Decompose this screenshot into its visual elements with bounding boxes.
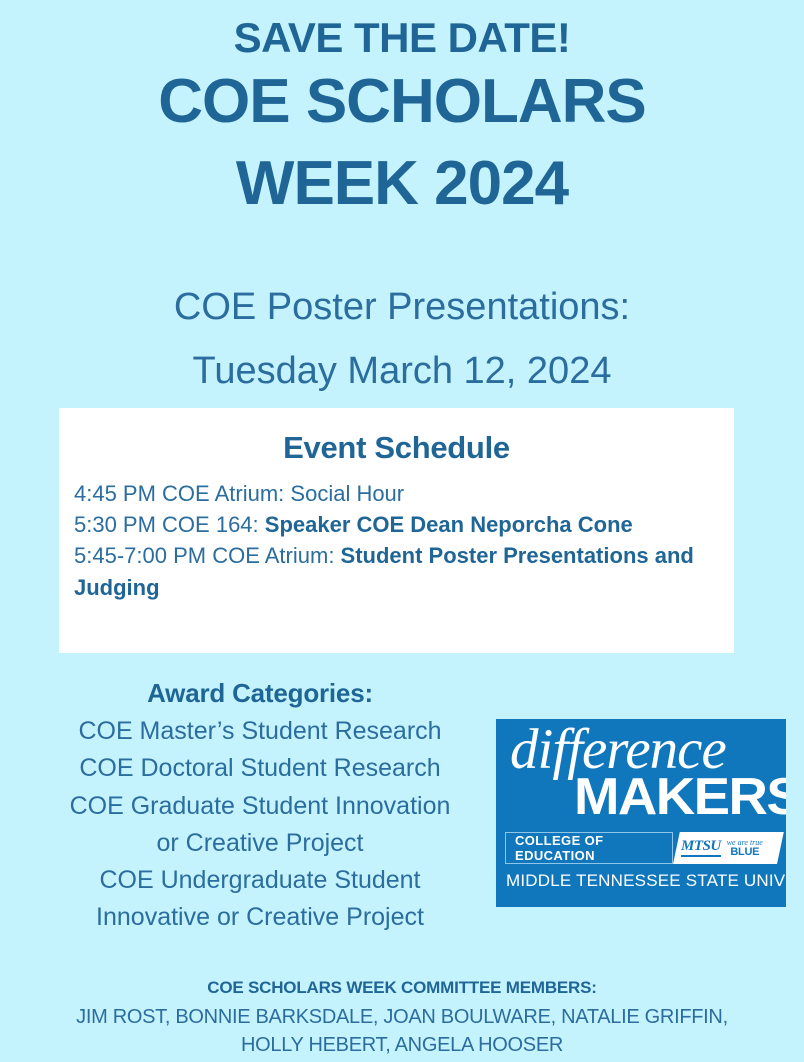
award-category-item: COE Graduate Student Innovation <box>24 788 496 825</box>
subtitle-block: COE Poster Presentations: Tuesday March … <box>0 276 804 404</box>
logo-college-label: COLLEGE OF EDUCATION <box>506 833 672 863</box>
subtitle-line-2: Tuesday March 12, 2024 <box>0 340 804 404</box>
headline-block: SAVE THE DATE! COE SCHOLARS WEEK 2024 <box>0 14 804 225</box>
logo-college-label-box: COLLEGE OF EDUCATION <box>505 832 673 864</box>
mtsu-difference-makers-logo: difference MAKERS COLLEGE OF EDUCATION M… <box>496 719 786 907</box>
award-categories-heading: Award Categories: <box>24 678 496 709</box>
award-category-item: COE Master’s Student Research <box>24 713 496 750</box>
event-schedule-card: Event Schedule 4:45 PM COE Atrium: Socia… <box>59 408 734 653</box>
schedule-item-detail: Speaker COE Dean Neporcha Cone <box>265 512 633 537</box>
save-the-date-poster: SAVE THE DATE! COE SCHOLARS WEEK 2024 CO… <box>0 0 804 1062</box>
committee-block: COE SCHOLARS WEEK COMMITTEE MEMBERS: JIM… <box>0 978 804 1060</box>
mtsu-wordmark: MTSU <box>681 839 721 857</box>
logo-word-makers: MAKERS <box>574 771 786 823</box>
committee-heading: COE SCHOLARS WEEK COMMITTEE MEMBERS: <box>0 978 804 998</box>
committee-members-line-2: HOLLY HEBERT, ANGELA HOOSER <box>0 1031 804 1059</box>
subtitle-line-1: COE Poster Presentations: <box>0 276 804 340</box>
award-category-item: Innovative or Creative Project <box>24 899 496 936</box>
logo-university-name: MIDDLE TENNESSEE STATE UNIVERSITY. <box>506 871 786 891</box>
committee-members-line-1: JIM ROST, BONNIE BARKSDALE, JOAN BOULWAR… <box>0 1003 804 1031</box>
award-categories-block: Award Categories: COE Master’s Student R… <box>24 678 496 937</box>
schedule-item-time-place: 5:45-7:00 PM COE Atrium: <box>74 543 341 568</box>
kicker-save-the-date: SAVE THE DATE! <box>0 14 804 61</box>
logo-college-bar: COLLEGE OF EDUCATION MTSU we are true BL… <box>505 832 777 864</box>
schedule-item-detail: Social Hour <box>290 481 404 506</box>
award-category-item: COE Doctoral Student Research <box>24 750 496 787</box>
event-schedule-list: 4:45 PM COE Atrium: Social Hour 5:30 PM … <box>59 466 734 603</box>
schedule-item-time-place: 5:30 PM COE 164: <box>74 512 265 537</box>
schedule-item-time-place: 4:45 PM COE Atrium: <box>74 481 290 506</box>
schedule-item: 5:45-7:00 PM COE Atrium: Student Poster … <box>74 540 718 602</box>
true-blue-tagline-bottom: BLUE <box>727 847 763 857</box>
award-category-item: or Creative Project <box>24 825 496 862</box>
schedule-item: 4:45 PM COE Atrium: Social Hour <box>74 478 718 509</box>
award-category-item: COE Undergraduate Student <box>24 862 496 899</box>
schedule-item: 5:30 PM COE 164: Speaker COE Dean Neporc… <box>74 509 718 540</box>
page-title-line-1: COE SCHOLARS <box>0 61 804 143</box>
true-blue-badge: we are true BLUE <box>727 839 763 856</box>
page-title-line-2: WEEK 2024 <box>0 143 804 225</box>
event-schedule-heading: Event Schedule <box>59 408 734 466</box>
logo-badges: MTSU we are true BLUE <box>681 835 781 861</box>
